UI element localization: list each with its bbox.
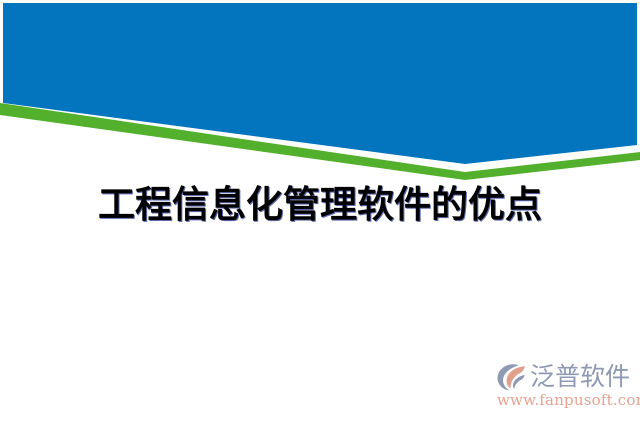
banner-green-shape	[0, 103, 640, 180]
slide-canvas: 工程信息化管理软件的优点 泛普软件 www.fanpusoft.com	[0, 0, 640, 427]
fanpu-swoosh-logo-icon	[496, 362, 528, 392]
brand-logo-row: 泛普软件	[496, 360, 632, 394]
banner-blue-shape	[3, 3, 637, 164]
page-title: 工程信息化管理软件的优点	[0, 183, 640, 227]
chevron-banner	[0, 0, 640, 200]
page-title-text: 工程信息化管理软件的优点	[98, 183, 542, 227]
brand-logo-text: 泛普软件	[530, 362, 630, 392]
brand-logo: 泛普软件 www.fanpusoft.com	[496, 360, 632, 418]
brand-website-text: www.fanpusoft.com	[496, 391, 632, 409]
